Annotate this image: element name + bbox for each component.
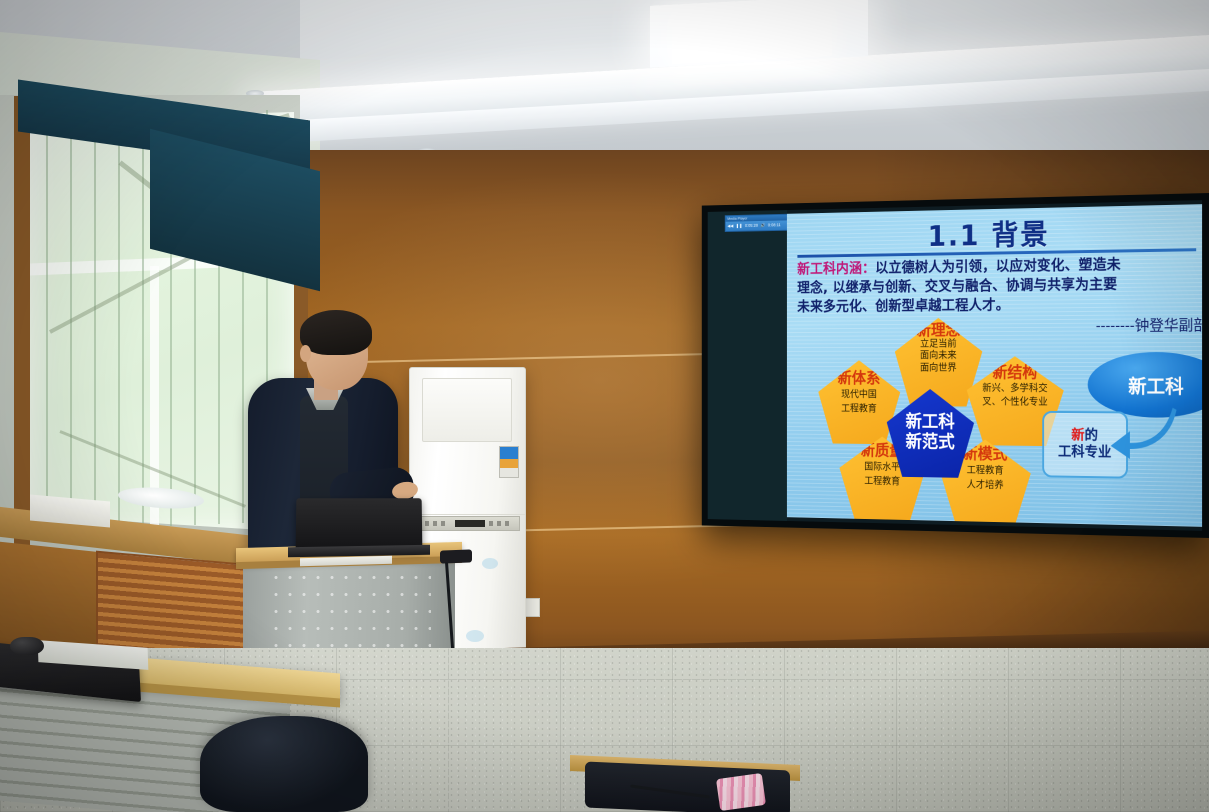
pentagon-top-line-1: 立足当前 [920,339,956,351]
screen-letterbox [708,210,787,521]
ac-button-icon[interactable] [489,521,493,526]
pentagon-top-heading: 新理念 [916,322,960,339]
pentagon-left-heading: 新体系 [838,370,881,387]
ellipse-label: 新工科 [1128,371,1183,398]
podium-laptop-screen[interactable] [296,498,423,550]
elapsed-time: 0:05:28 [745,222,758,230]
pentagon-center-line-1: 新工科 [906,413,955,433]
slide-keyword: 新工科内涵： [797,261,875,277]
pentagon-right-heading: 新结构 [993,364,1038,381]
window-bar [118,116,120,528]
pentagon-bottom-left-line-1: 国际水平 [864,462,900,474]
pentagon-bottom-left-line-2: 工程教育 [864,476,900,489]
backpack [200,716,368,812]
pentagon-left-line-2: 工程教育 [841,404,877,416]
pentagon-bottom-right-line-1: 工程教育 [967,465,1004,478]
pentagon-bottom-right-line-2: 人才培养 [967,480,1004,493]
projection-screen[interactable]: Media Player ◀◀ ❚❚ 0:05:28 🔊 0:08:11 1.1… [702,193,1209,538]
air-conditioner-vent [422,378,512,442]
ac-decal-icon [482,558,498,569]
window-bar [46,118,48,530]
slide-body-line-1: 以立德树人为引领，以应对变化、塑造未 [875,257,1121,276]
roundbox-red-char: 新 [1071,428,1084,444]
slide-attribution: --------钟登华副部 [1096,314,1202,335]
pentagon-top-line-2: 面向未来 [920,351,956,363]
wall-outlet [525,598,540,617]
presenter-ear [300,345,311,362]
ac-decal-icon [466,630,484,642]
previous-icon[interactable]: ◀◀ [727,223,733,231]
lecture-room-photo: Media Player ◀◀ ❚❚ 0:05:28 🔊 0:08:11 1.1… [0,0,1209,812]
powerpoint-slide[interactable]: 1.1 背景 新工科内涵：以立德树人为引领，以应对变化、塑造未 理念, 以继承与… [787,204,1202,527]
pentagon-left-line-1: 现代中国 [841,389,877,401]
roundbox-line-2: 工科专业 [1058,444,1111,461]
pentagon-bottom-right-heading: 新模式 [963,445,1007,463]
slide-body-text: 新工科内涵：以立德树人为引领，以应对变化、塑造未 理念, 以继承与创新、交叉与融… [797,254,1198,317]
ac-button-icon[interactable] [433,521,437,526]
ceiling-panel-light-core [672,4,832,64]
pentagon-left[interactable]: 新体系 现代中国 工程教育 [818,360,900,444]
ac-button-icon[interactable] [497,521,501,526]
pentagon-right-line-1: 新兴、多学科交 [982,383,1047,395]
pentagon-top-line-3: 面向世界 [920,363,956,375]
ac-button-icon[interactable] [425,521,429,526]
computer-mouse[interactable] [10,637,44,655]
presenter-hair [300,310,372,355]
pause-icon[interactable]: ❚❚ [736,222,742,230]
ac-button-icon[interactable] [441,521,445,526]
air-conditioner-control-panel[interactable] [416,516,520,531]
roundbox-rest-char: 的 [1085,428,1098,444]
volume-icon[interactable]: 🔊 [760,222,765,230]
window-bar [94,117,96,529]
window-bar [70,118,72,530]
air-conditioner-display [455,520,485,527]
ac-button-icon[interactable] [505,521,509,526]
air-conditioner-seam [410,514,525,515]
arrow-left-icon [1109,401,1179,459]
foreground-pink-item [716,773,766,811]
total-time: 0:08:11 [768,221,781,229]
pentagon-center-line-2: 新范式 [906,433,955,453]
pentagon-right-line-2: 叉、个性化专业 [982,397,1047,410]
energy-label-sticker [499,446,519,478]
